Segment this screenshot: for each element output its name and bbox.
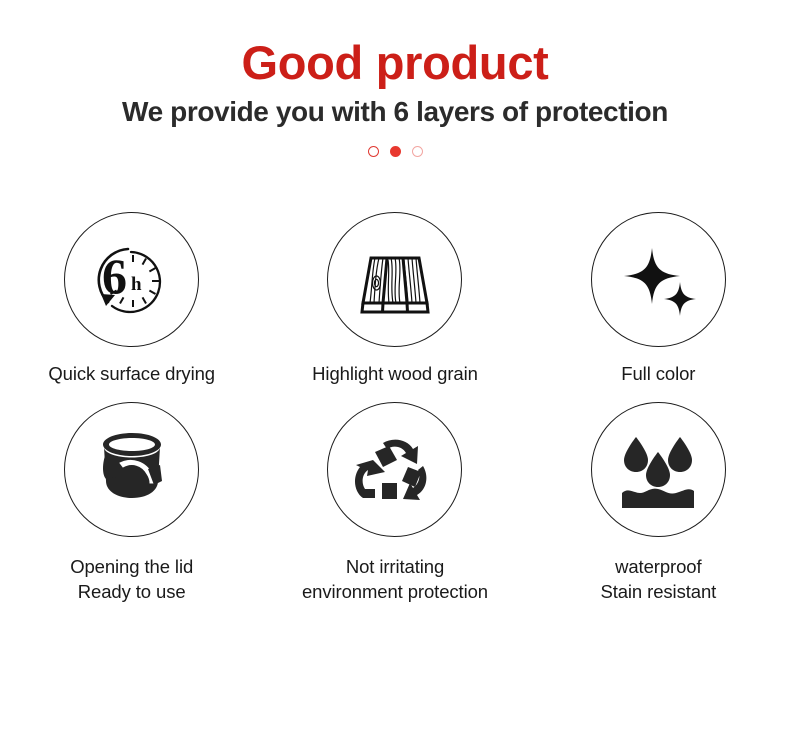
recycle-icon — [345, 419, 445, 519]
pagination-dot-3[interactable] — [412, 146, 423, 157]
clock-6h-icon: 6 h — [82, 230, 182, 330]
feature-icon-circle — [591, 212, 726, 347]
wood-grain-planks-icon — [345, 230, 445, 330]
feature-icon-circle — [64, 402, 199, 537]
feature-item-opening-the-lid: Opening the lid Ready to use — [0, 402, 263, 605]
feature-item-environment-protection: Not irritating environment protection — [263, 402, 526, 605]
feature-grid: 6 h Quick surface drying — [0, 212, 790, 605]
feature-caption: Not irritating environment protection — [302, 555, 488, 605]
page-subtitle: We provide you with 6 layers of protecti… — [0, 87, 790, 128]
product-feature-panel: Good product We provide you with 6 layer… — [0, 0, 790, 733]
feature-icon-circle — [327, 402, 462, 537]
feature-item-full-color: Full color — [527, 212, 790, 387]
feature-caption: waterproof Stain resistant — [600, 555, 716, 605]
feature-caption: Highlight wood grain — [312, 362, 478, 387]
paint-bucket-icon — [82, 419, 182, 519]
svg-text:6: 6 — [102, 248, 127, 304]
feature-icon-circle — [327, 212, 462, 347]
feature-item-waterproof: waterproof Stain resistant — [527, 402, 790, 605]
page-title: Good product — [0, 0, 790, 87]
water-drops-icon — [608, 419, 708, 519]
svg-text:h: h — [131, 274, 142, 295]
sparkle-stars-icon — [608, 230, 708, 330]
feature-item-quick-surface-drying: 6 h Quick surface drying — [0, 212, 263, 387]
pagination-dots — [0, 129, 790, 157]
feature-item-highlight-wood-grain: Highlight wood grain — [263, 212, 526, 387]
feature-caption: Opening the lid Ready to use — [70, 555, 193, 605]
pagination-dot-1[interactable] — [368, 146, 379, 157]
pagination-dot-2[interactable] — [390, 146, 401, 157]
header: Good product We provide you with 6 layer… — [0, 0, 790, 157]
feature-icon-circle: 6 h — [64, 212, 199, 347]
feature-caption: Full color — [621, 362, 695, 387]
feature-icon-circle — [591, 402, 726, 537]
feature-caption: Quick surface drying — [48, 362, 215, 387]
